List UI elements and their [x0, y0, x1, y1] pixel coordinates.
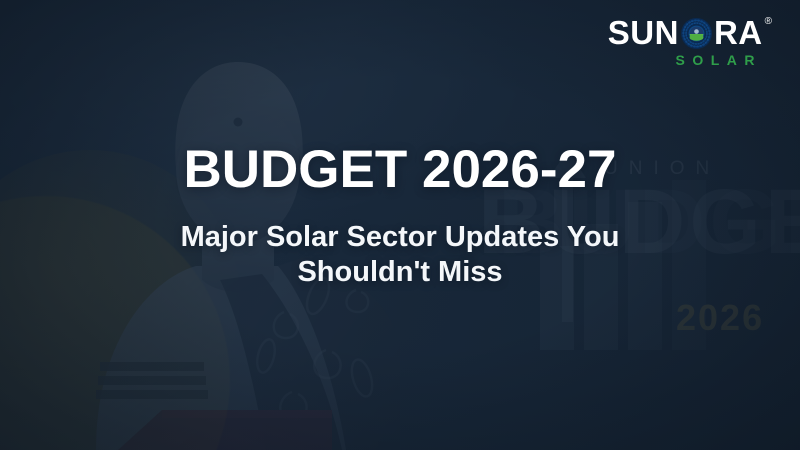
registered-trademark-icon: ® — [765, 17, 772, 27]
sun-landscape-emblem-icon — [680, 17, 713, 50]
brand-logo[interactable]: SUN — [608, 16, 772, 68]
page-subtitle-line-1: Major Solar Sector Updates You — [181, 221, 620, 253]
logo-wordmark-row: SUN — [608, 16, 772, 49]
budget-announcement-banner: BUDGET BUDGET UNION 2026 — [0, 0, 800, 450]
logo-tagline: SOLAR — [676, 52, 763, 68]
page-subtitle-line-2: Shouldn't Miss — [297, 256, 502, 288]
page-subtitle: Major Solar Sector Updates You Shouldn't… — [120, 220, 680, 291]
headline-block: BUDGET 2026-27 Major Solar Sector Update… — [0, 142, 800, 290]
logo-word-sun: SUN — [608, 16, 679, 49]
page-title: BUDGET 2026-27 — [40, 142, 760, 198]
logo-word-ra: RA — [714, 16, 763, 49]
